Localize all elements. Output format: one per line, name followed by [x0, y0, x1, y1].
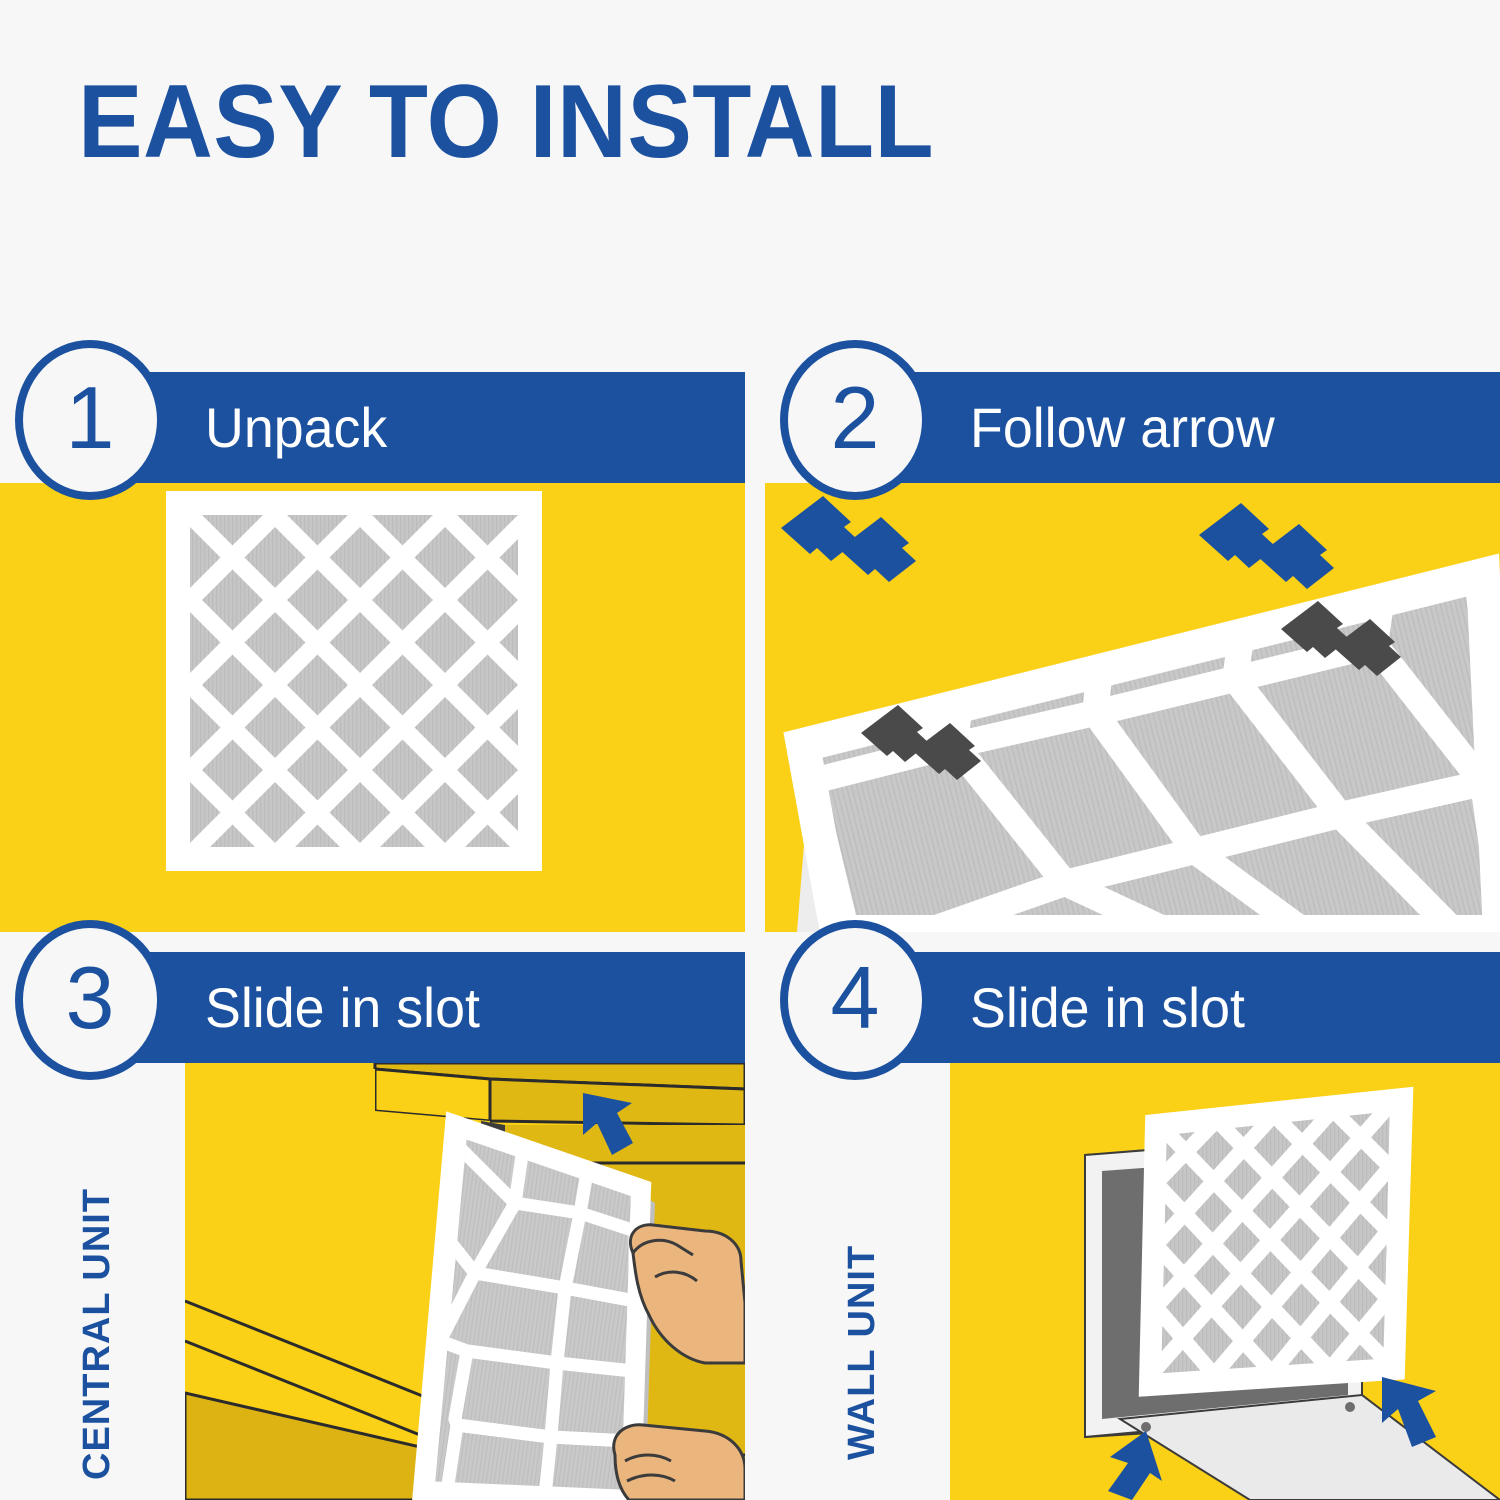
direction-arrow-blue-icon — [1108, 1431, 1162, 1500]
step-2-illustration-area — [765, 483, 1500, 932]
air-filter-front-icon — [1140, 1089, 1402, 1385]
air-filter-front-icon — [0, 483, 745, 932]
step-1-label: Unpack — [205, 400, 387, 456]
step-1-banner: Unpack — [90, 372, 745, 483]
airflow-arrow-blue-icon — [781, 496, 916, 582]
step-number-badge-4: 4 — [780, 920, 930, 1080]
step-number-badge-1: 1 — [15, 340, 165, 500]
side-label-wall-unit: WALL UNIT — [843, 1245, 881, 1460]
step-number-1: 1 — [66, 374, 115, 462]
infographic-page: EASY TO INSTALL Unpack — [0, 0, 1500, 1500]
step-2-banner: Follow arrow — [855, 372, 1500, 483]
step-3-illustration-area — [185, 1063, 745, 1500]
step-number-4: 4 — [831, 954, 880, 1042]
step-number-badge-2: 2 — [780, 340, 930, 500]
step-number-3: 3 — [66, 954, 115, 1042]
air-filter-angled-icon — [765, 483, 1500, 932]
step-number-2: 2 — [831, 374, 880, 462]
wall-vent-icon — [950, 1063, 1500, 1500]
step-3-label: Slide in slot — [205, 980, 480, 1036]
central-unit-duct-icon — [185, 1063, 745, 1500]
step-4-illustration-area — [950, 1063, 1500, 1500]
step-number-badge-3: 3 — [15, 920, 165, 1080]
step-3-banner: Slide in slot — [90, 952, 745, 1063]
step-1-illustration-area — [0, 483, 745, 932]
airflow-arrow-blue-icon — [1199, 503, 1334, 589]
page-title: EASY TO INSTALL — [78, 70, 934, 174]
side-label-central-unit: CENTRAL UNIT — [78, 1188, 116, 1480]
step-4-label: Slide in slot — [970, 980, 1245, 1036]
step-2-label: Follow arrow — [970, 400, 1275, 456]
step-4-banner: Slide in slot — [855, 952, 1500, 1063]
